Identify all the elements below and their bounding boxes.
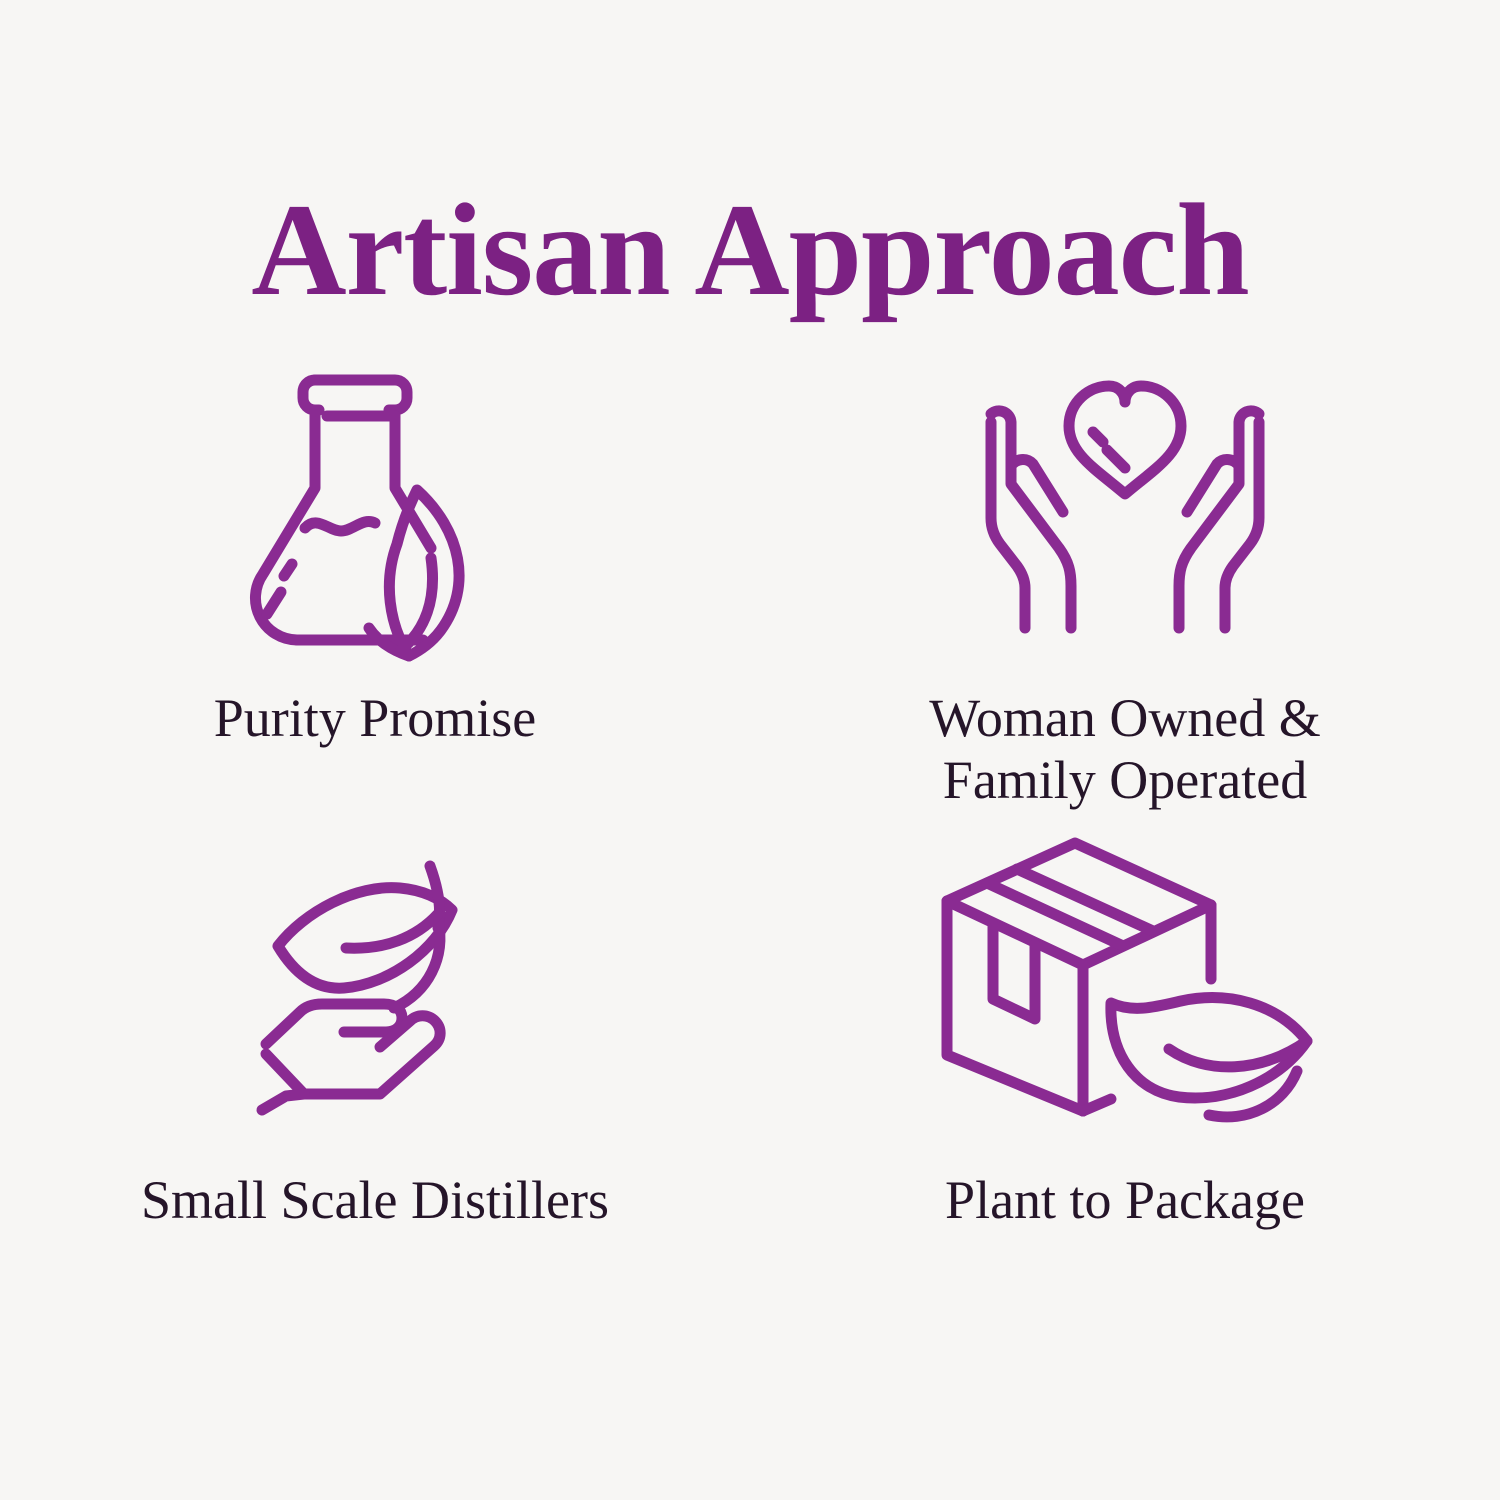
page-title-wrap: Artisan Approach	[0, 96, 1500, 405]
feature-item-small-scale-distillers: Small Scale Distillers	[0, 830, 750, 1250]
feature-label: Purity Promise	[214, 688, 537, 750]
artisan-approach-panel: Artisan Approach	[0, 0, 1500, 1500]
feature-grid: Purity Promise	[0, 360, 1500, 1420]
feature-item-plant-to-package: Plant to Package	[750, 830, 1500, 1250]
hands-holding-heart-icon	[750, 360, 1500, 660]
page-title: Artisan Approach	[251, 184, 1248, 316]
feature-label: Woman Owned & Family Operated	[929, 688, 1321, 811]
box-leaf-icon	[750, 830, 1500, 1130]
feature-item-purity-promise: Purity Promise	[0, 360, 750, 830]
feature-label: Plant to Package	[945, 1170, 1305, 1232]
leaf-in-hand-icon	[0, 830, 750, 1130]
feature-item-woman-owned: Woman Owned & Family Operated	[750, 360, 1500, 830]
flask-leaf-icon	[0, 360, 750, 660]
feature-label: Small Scale Distillers	[141, 1170, 609, 1232]
